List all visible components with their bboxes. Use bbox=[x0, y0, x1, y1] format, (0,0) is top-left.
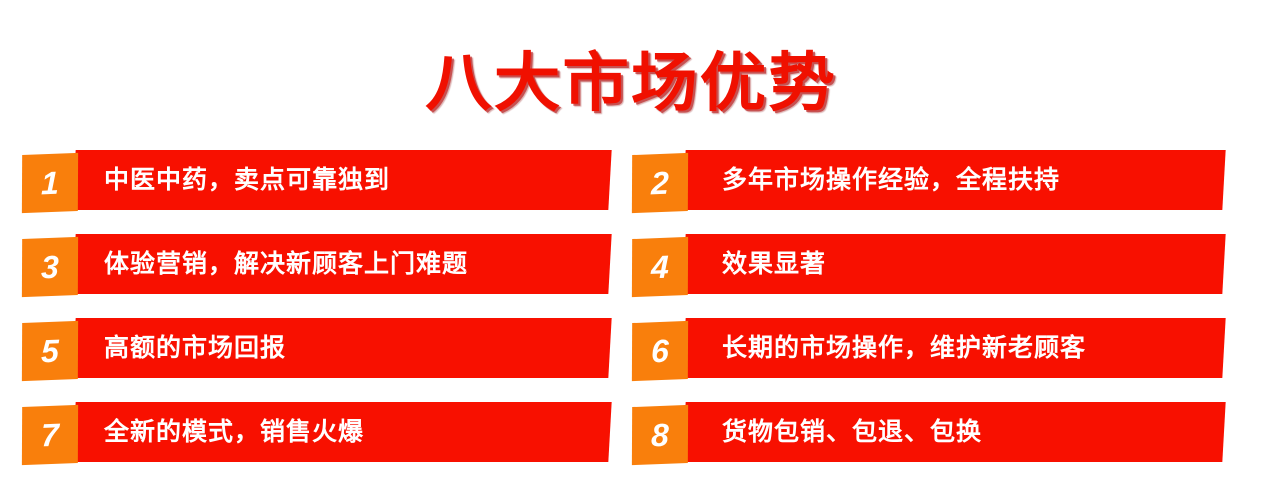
advantage-row: 3 体验营销，解决新顾客上门难题 4 效果显著 bbox=[0, 232, 1262, 298]
advantage-number: 8 bbox=[632, 405, 688, 465]
advantage-number-badge: 4 bbox=[632, 237, 688, 297]
advantage-number-badge: 2 bbox=[632, 153, 688, 213]
advantage-item-2[interactable]: 2 多年市场操作经验，全程扶持 bbox=[632, 148, 1242, 214]
advantage-number: 4 bbox=[632, 237, 688, 297]
advantage-label: 长期的市场操作，维护新老顾客 bbox=[722, 318, 1086, 378]
advantage-label: 全新的模式，销售火爆 bbox=[104, 402, 364, 462]
advantage-number: 1 bbox=[22, 153, 78, 213]
advantage-label: 体验营销，解决新顾客上门难题 bbox=[104, 234, 468, 294]
advantage-row: 5 高额的市场回报 6 长期的市场操作，维护新老顾客 bbox=[0, 316, 1262, 382]
poster-canvas: 八大市场优势 1 中医中药，卖点可靠独到 2 多年市场操作经验，全程扶持 bbox=[0, 0, 1262, 498]
advantage-item-8[interactable]: 8 货物包销、包退、包换 bbox=[632, 400, 1242, 466]
advantage-item-1[interactable]: 1 中医中药，卖点可靠独到 bbox=[22, 148, 632, 214]
advantage-number: 3 bbox=[22, 237, 78, 297]
advantage-row: 7 全新的模式，销售火爆 8 货物包销、包退、包换 bbox=[0, 400, 1262, 466]
page-title-container: 八大市场优势 bbox=[0, 44, 1262, 130]
advantage-number-badge: 1 bbox=[22, 153, 78, 213]
advantage-label: 中医中药，卖点可靠独到 bbox=[104, 150, 390, 210]
advantage-number-badge: 8 bbox=[632, 405, 688, 465]
advantage-label: 货物包销、包退、包换 bbox=[722, 402, 982, 462]
advantage-item-5[interactable]: 5 高额的市场回报 bbox=[22, 316, 632, 382]
advantage-label: 效果显著 bbox=[722, 234, 826, 294]
advantage-label: 多年市场操作经验，全程扶持 bbox=[722, 150, 1060, 210]
advantage-number: 5 bbox=[22, 321, 78, 381]
advantage-number-badge: 3 bbox=[22, 237, 78, 297]
page-title: 八大市场优势 bbox=[425, 44, 837, 124]
advantage-number-badge: 6 bbox=[632, 321, 688, 381]
advantages-grid: 1 中医中药，卖点可靠独到 2 多年市场操作经验，全程扶持 3 体验营销，解决新… bbox=[0, 148, 1262, 488]
advantage-item-3[interactable]: 3 体验营销，解决新顾客上门难题 bbox=[22, 232, 632, 298]
advantage-number-badge: 5 bbox=[22, 321, 78, 381]
advantage-number: 2 bbox=[632, 153, 688, 213]
advantage-number: 7 bbox=[22, 405, 78, 465]
advantage-item-7[interactable]: 7 全新的模式，销售火爆 bbox=[22, 400, 632, 466]
advantage-row: 1 中医中药，卖点可靠独到 2 多年市场操作经验，全程扶持 bbox=[0, 148, 1262, 214]
advantage-label: 高额的市场回报 bbox=[104, 318, 286, 378]
advantage-number-badge: 7 bbox=[22, 405, 78, 465]
advantage-item-6[interactable]: 6 长期的市场操作，维护新老顾客 bbox=[632, 316, 1242, 382]
advantage-item-4[interactable]: 4 效果显著 bbox=[632, 232, 1242, 298]
advantage-number: 6 bbox=[632, 321, 688, 381]
